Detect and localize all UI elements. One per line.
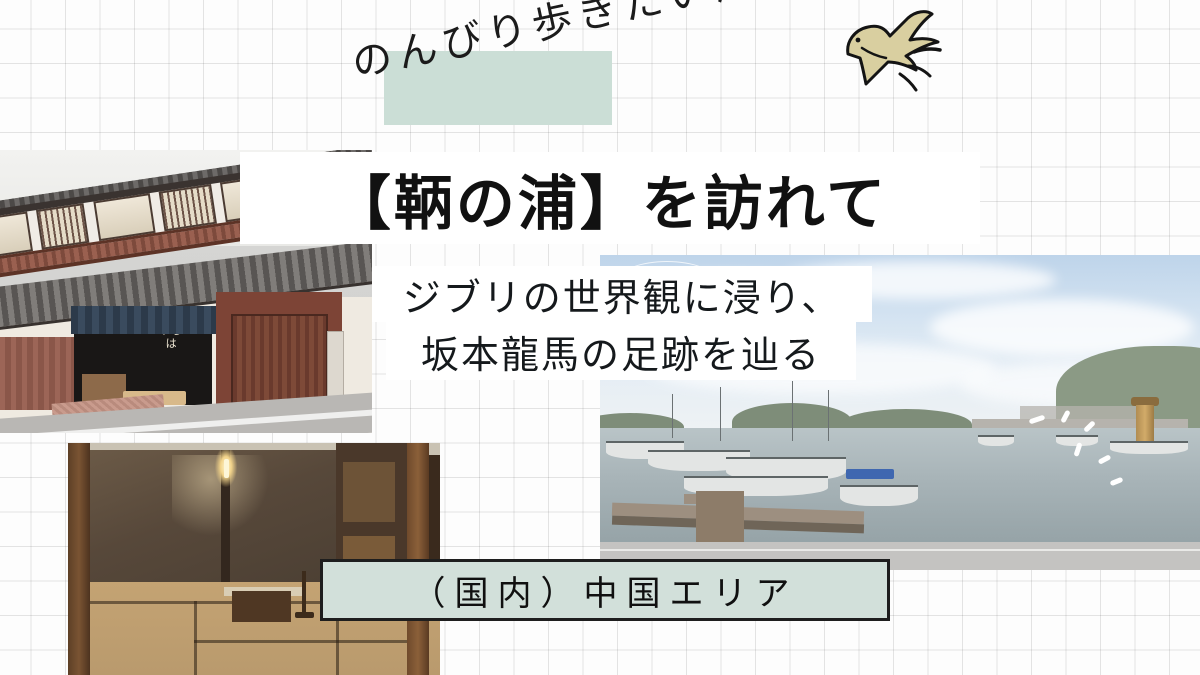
area-badge-label: （国内）中国エリア [412, 566, 799, 615]
boat-mast [720, 387, 721, 441]
left-door-frame [68, 443, 90, 675]
candle-flame [224, 459, 228, 478]
tatami-seam [194, 601, 197, 675]
subtitle-band-1: ジブリの世界観に浸り、 [372, 266, 872, 322]
boat-canopy [846, 469, 894, 478]
lattice-panel [36, 202, 89, 249]
small-boat [840, 485, 918, 506]
title-band: 【鞆の浦】を訪れて [240, 152, 980, 244]
kicker-group: のんびり歩きたい港町 [352, 6, 872, 126]
subtitle-line-1: ジブリの世界観に浸り、 [372, 266, 872, 322]
area-badge: （国内）中国エリア [320, 559, 890, 621]
boat-mast [672, 394, 673, 438]
red-wood-wall [0, 337, 74, 411]
quay-line [600, 549, 1200, 551]
tatami-seam [194, 640, 417, 643]
mooring-post [696, 491, 744, 541]
candle-stand [302, 571, 306, 617]
boat-mast [828, 390, 829, 440]
page-title: 【鞆の浦】を訪れて [240, 152, 980, 244]
shop-sign-label: いろは [156, 325, 186, 382]
swallow-bird-svg [828, 8, 948, 100]
boat-mast [792, 381, 793, 441]
low-desk [232, 591, 292, 621]
fishing-boat [1110, 441, 1188, 454]
subtitle-line-2: 坂本龍馬の足跡を辿る [386, 322, 856, 380]
candle-stand-base [295, 612, 314, 618]
right-wall-panel [343, 462, 395, 522]
noren-curtain [71, 306, 220, 334]
joyato-lantern [1136, 405, 1154, 443]
subtitle-band-2: 坂本龍馬の足跡を辿る [386, 322, 856, 380]
swallow-bird-icon [828, 8, 948, 100]
poster-canvas: いろは [0, 0, 1200, 675]
fishing-boat [978, 435, 1014, 446]
